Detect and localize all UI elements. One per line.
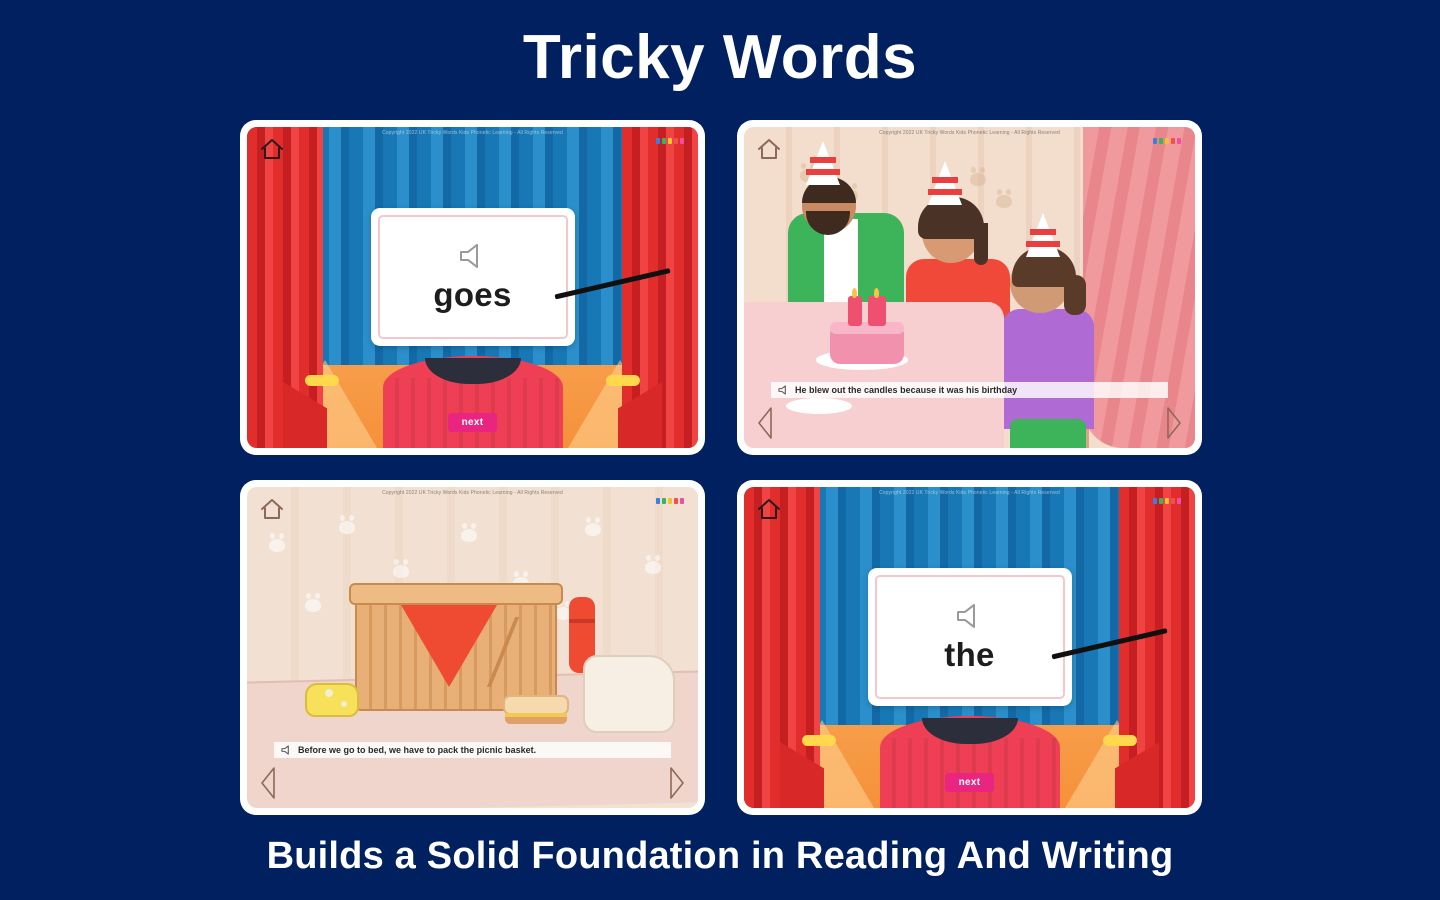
speaker-icon[interactable]	[280, 745, 293, 755]
candle-flame	[874, 288, 879, 298]
sandwich	[503, 695, 569, 725]
page-title: Tricky Words	[0, 24, 1440, 92]
app-screenshot-panel-2[interactable]: He blew out the candles because it was h…	[737, 120, 1202, 455]
flashcard-inner: goes	[378, 214, 568, 338]
app-screenshot-panel-1[interactable]: goes next Copyright 2022 UK Tricky Words…	[240, 120, 705, 455]
home-icon[interactable]	[259, 497, 285, 521]
brand-logo-icon	[1153, 138, 1181, 144]
speaker-icon[interactable]	[456, 242, 490, 268]
paw-decoration	[645, 561, 661, 574]
word-flashcard-2[interactable]: the	[868, 567, 1072, 705]
home-icon[interactable]	[259, 137, 285, 161]
stage-scene-1: goes next Copyright 2022 UK Tricky Words…	[247, 127, 698, 448]
app-screenshot-panel-3[interactable]: Before we go to bed, we have to pack the…	[240, 480, 705, 815]
brand-logo-icon	[1153, 498, 1181, 504]
candle-digit-6	[868, 296, 886, 326]
paw-decoration	[393, 565, 409, 578]
promo-screenshot-page: Tricky Words	[0, 0, 1440, 900]
curtain-sash-right	[1103, 735, 1137, 746]
party-hat	[806, 141, 840, 185]
empty-plate	[786, 398, 852, 414]
next-arrow-icon[interactable]	[1165, 406, 1183, 440]
home-icon[interactable]	[756, 137, 782, 161]
flashcard-word: the	[944, 637, 994, 670]
picnic-basket	[355, 583, 557, 711]
paw-decoration	[269, 539, 285, 552]
copyright-notice: Copyright 2022 UK Tricky Words Kids Phon…	[247, 130, 698, 136]
curtain-sash-right	[606, 375, 640, 386]
stage-scene-2: the next Copyright 2022 UK Tricky Words …	[744, 487, 1195, 808]
flashcard-word: goes	[433, 277, 511, 310]
brand-logo-icon	[656, 138, 684, 144]
picnic-scene: Before we go to bed, we have to pack the…	[247, 487, 698, 808]
cheese-hole	[325, 689, 333, 697]
curtain-sash-left	[802, 735, 836, 746]
sentence-caption-bar[interactable]: Before we go to bed, we have to pack the…	[274, 742, 671, 758]
app-screenshot-panel-4[interactable]: the next Copyright 2022 UK Tricky Words …	[737, 480, 1202, 815]
page-tagline: Builds a Solid Foundation in Reading And…	[0, 835, 1440, 878]
next-button[interactable]: next	[448, 413, 498, 432]
speaker-icon[interactable]	[953, 602, 987, 628]
paw-decoration	[305, 599, 321, 612]
candle-digit-1	[848, 296, 862, 326]
candle-flame	[852, 288, 857, 298]
party-hat	[1026, 213, 1060, 257]
screenshot-grid: goes next Copyright 2022 UK Tricky Words…	[240, 120, 1202, 820]
caption-text: Before we go to bed, we have to pack the…	[298, 745, 536, 755]
curtain-sash-left	[305, 375, 339, 386]
next-arrow-icon[interactable]	[668, 766, 686, 800]
cake-icing	[830, 322, 904, 334]
word-flashcard-1[interactable]: goes	[371, 207, 575, 345]
copyright-notice: Copyright 2022 UK Tricky Words Kids Phon…	[744, 130, 1195, 136]
paw-decoration	[339, 521, 355, 534]
thermos-band	[569, 619, 595, 623]
brand-logo-icon	[656, 498, 684, 504]
speaker-icon[interactable]	[777, 385, 790, 395]
previous-arrow-icon[interactable]	[756, 406, 774, 440]
next-button[interactable]: next	[945, 773, 995, 792]
previous-arrow-icon[interactable]	[259, 766, 277, 800]
party-hat	[928, 161, 962, 205]
copyright-notice: Copyright 2022 UK Tricky Words Kids Phon…	[247, 490, 698, 496]
bread-bag	[583, 655, 675, 733]
birthday-scene: He blew out the candles because it was h…	[744, 127, 1195, 448]
cheese-wedge	[305, 683, 359, 717]
sentence-caption-bar[interactable]: He blew out the candles because it was h…	[771, 382, 1168, 398]
flashcard-inner: the	[875, 574, 1065, 698]
cheese-hole	[341, 701, 347, 707]
caption-text: He blew out the candles because it was h…	[795, 385, 1017, 395]
paw-decoration	[461, 529, 477, 542]
home-icon[interactable]	[756, 497, 782, 521]
paw-decoration	[585, 523, 601, 536]
copyright-notice: Copyright 2022 UK Tricky Words Kids Phon…	[744, 490, 1195, 496]
